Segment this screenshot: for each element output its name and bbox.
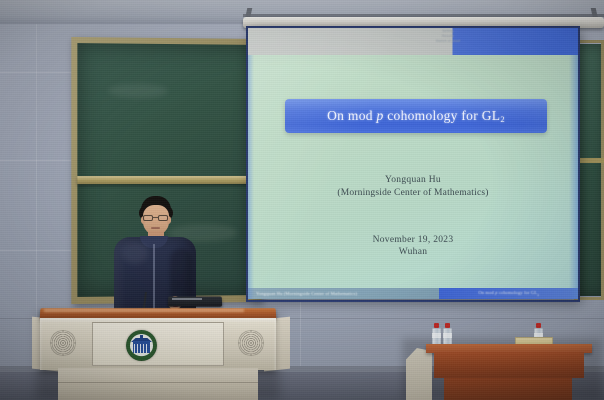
bottle-label <box>432 333 441 338</box>
slide-title-prefix: On mod <box>327 108 376 123</box>
slide-date: November 19, 2023 <box>248 235 578 245</box>
water-bottle <box>443 323 452 345</box>
table-side-panel <box>406 348 432 400</box>
seal-building-columns <box>134 344 149 353</box>
slide-navigation-bar: Setting Results Sketch of proof <box>248 27 578 55</box>
glasses-icon <box>143 215 169 222</box>
slide-author-name: Yongquan Hu <box>248 175 578 185</box>
podium-base <box>58 368 258 400</box>
university-seal-icon <box>126 330 157 361</box>
slide-footer-bar: Yongquan Hu (Morningside Center of Mathe… <box>248 288 578 299</box>
laptop-edge <box>172 298 202 300</box>
footer-title-prefix: On mod <box>478 290 495 295</box>
chalkboard-secondary-ledge <box>577 158 604 163</box>
podium-front-panel <box>92 322 224 366</box>
table-front <box>434 352 584 378</box>
slide-title-subscript: 2 <box>500 114 505 124</box>
bottle-label <box>443 333 452 338</box>
slide-footer-left: Yongquan Hu (Morningside Center of Mathe… <box>248 288 439 299</box>
slide-title: On mod p cohomology for GL2 <box>327 108 505 124</box>
wall-seam-vertical <box>36 24 37 324</box>
slide-author-block: Yongquan Hu (Morningside Center of Mathe… <box>248 175 578 198</box>
projection-screen: Setting Results Sketch of proof On mod p… <box>248 27 578 299</box>
slide-navigation-items: Setting Results Sketch of proof <box>388 29 508 44</box>
mouth <box>151 227 160 229</box>
slide-title-banner: On mod p cohomology for GL2 <box>285 99 547 133</box>
podium-base-seam <box>58 382 258 383</box>
jacket-zipper <box>153 244 155 314</box>
lecture-hall-scene: Setting Results Sketch of proof On mod p… <box>0 0 604 400</box>
water-bottle <box>432 323 441 345</box>
footer-title-subscript: 2 <box>537 293 539 297</box>
screen-glare <box>248 27 578 299</box>
glasses-lens-right <box>158 215 168 221</box>
slide-location: Wuhan <box>248 247 578 257</box>
wall-seam-vertical <box>300 300 301 370</box>
podium-speaker-grille-left <box>50 330 76 356</box>
footer-title-mid: cohomology for GL <box>498 290 538 295</box>
slide-footer-right: On mod p cohomology for GL2 <box>439 288 578 299</box>
chalkboard-secondary-frame <box>574 40 604 300</box>
podium-speaker-grille-right <box>238 330 264 356</box>
slide-title-mid: cohomology for GL <box>384 108 501 123</box>
slide-title-italic-p: p <box>376 108 383 123</box>
nav-item-2: Sketch of proof <box>388 39 508 44</box>
table-skirt <box>444 378 572 400</box>
slide-author-affiliation: (Morningside Center of Mathematics) <box>248 188 578 198</box>
projected-slide: Setting Results Sketch of proof On mod p… <box>248 27 578 299</box>
slide-date-block: November 19, 2023 Wuhan <box>248 235 578 257</box>
slide-footer-title: On mod p cohomology for GL2 <box>478 290 539 297</box>
glasses-lens-left <box>143 215 153 221</box>
chalkboard-ledge <box>77 176 261 184</box>
slide-footer-author: Yongquan Hu (Morningside Center of Mathe… <box>248 291 357 296</box>
podium-desktop-highlight <box>44 309 244 312</box>
jacket-highlight <box>122 242 148 264</box>
